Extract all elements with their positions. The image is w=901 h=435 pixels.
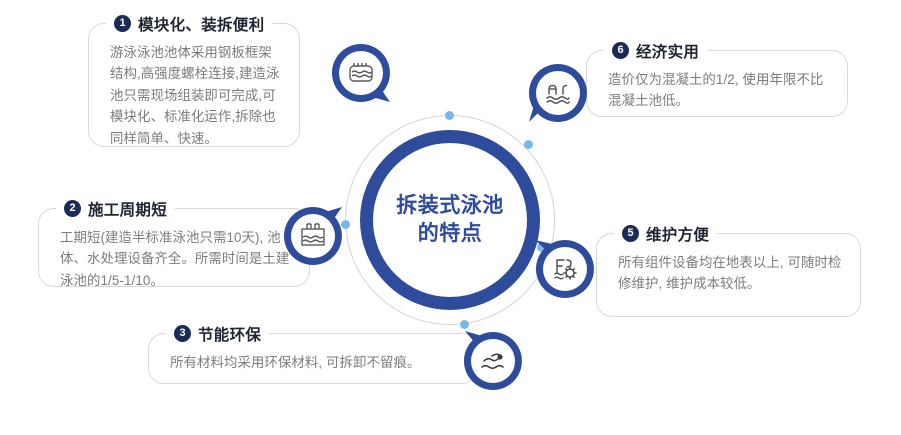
feature-card-1: 1 模块化、装拆便利 游泳泳池池体采用钢板框架结构,高强度螺栓连接,建造泳池只需… <box>88 12 300 147</box>
card-header: 1 模块化、装拆便利 <box>106 12 272 35</box>
hub-dot-top-right <box>524 140 533 149</box>
pin-marker-3 <box>462 330 524 392</box>
card-title: 维护方便 <box>646 223 709 245</box>
hub-dot-top <box>445 111 454 120</box>
hub-label: 拆装式泳池 的特点 <box>380 130 520 310</box>
feature-card-2: 2 施工周期短 工期短(建造半标准泳池只需10天), 池体、水处理设备齐全。所需… <box>38 197 310 287</box>
center-hub: 拆装式泳池 的特点 <box>345 115 555 325</box>
number-badge: 2 <box>64 200 81 217</box>
feature-card-3: 3 节能环保 所有材料均采用环保材料, 可拆卸不留痕。 <box>148 322 478 384</box>
card-title: 模块化、装拆便利 <box>138 13 264 35</box>
card-header: 6 经济实用 <box>604 39 707 62</box>
card-header: 3 节能环保 <box>166 322 269 345</box>
number-badge: 5 <box>622 225 639 242</box>
pin-marker-1 <box>330 42 392 104</box>
feature-card-6: 6 经济实用 造价仅为混凝土的1/2, 使用年限不比混凝土池低。 <box>586 39 848 117</box>
number-badge: 6 <box>612 42 629 59</box>
number-badge: 3 <box>174 325 191 342</box>
pin-marker-5 <box>534 238 596 300</box>
card-header: 5 维护方便 <box>614 222 717 245</box>
card-title: 施工周期短 <box>88 198 167 220</box>
card-title: 节能环保 <box>198 323 261 345</box>
number-badge: 1 <box>114 15 131 32</box>
card-title: 经济实用 <box>636 40 699 62</box>
card-body-text: 工期短(建造半标准泳池只需10天), 池体、水处理设备齐全。所需时间是土建泳池的… <box>60 227 294 291</box>
card-body-text: 所有组件设备均在地表以上, 可随时检修维护, 维护成本较低。 <box>618 252 845 295</box>
hub-label-line2: 的特点 <box>418 220 483 248</box>
feature-card-5: 5 维护方便 所有组件设备均在地表以上, 可随时检修维护, 维护成本较低。 <box>596 222 861 317</box>
pin-marker-2 <box>282 205 344 267</box>
card-body-text: 所有材料均采用环保材料, 可拆卸不留痕。 <box>170 352 462 373</box>
card-body-text: 游泳泳池池体采用钢板框架结构,高强度螺栓连接,建造泳池只需现场组装即可完成,可模… <box>110 42 284 149</box>
hub-label-line1: 拆装式泳池 <box>396 192 504 220</box>
infographic-canvas: 拆装式泳池 的特点 1 模块化、装拆便利 游泳泳池池体采用钢板框架结构,高强度螺… <box>0 0 901 435</box>
card-body-text: 造价仅为混凝土的1/2, 使用年限不比混凝土池低。 <box>608 69 832 112</box>
card-header: 2 施工周期短 <box>56 197 175 220</box>
pin-marker-6 <box>527 62 589 124</box>
